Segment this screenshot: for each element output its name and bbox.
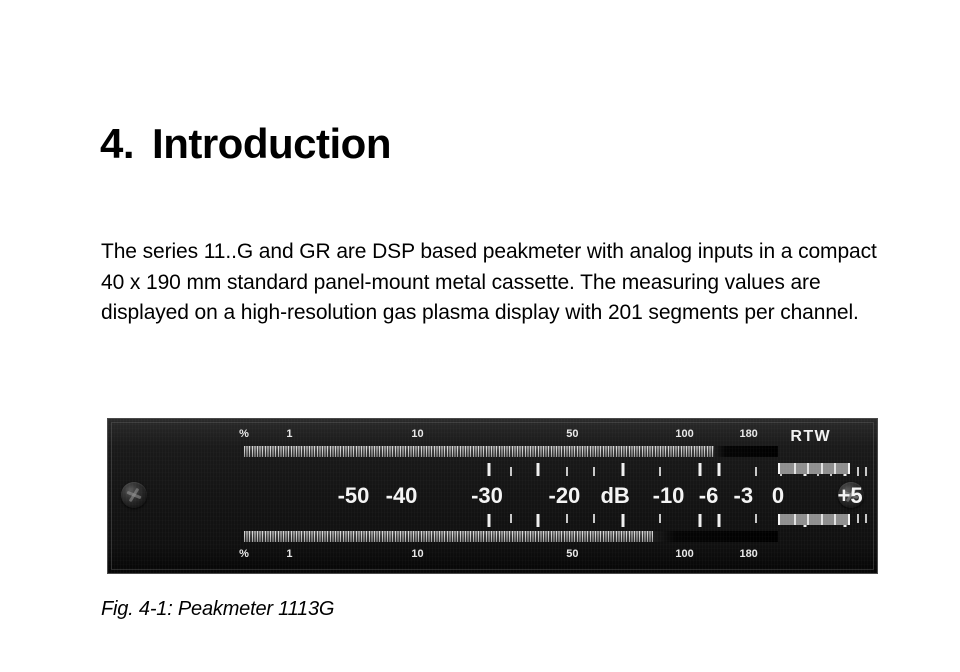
tick-minor (659, 467, 661, 476)
tick-major (621, 463, 624, 476)
tick-minor (510, 514, 512, 523)
tick-minor (566, 514, 568, 523)
tick-minor (755, 514, 757, 523)
percent-tick-label: % (239, 427, 249, 441)
overrange-bracket-lower (778, 514, 850, 525)
db-tick-label: -40 (386, 481, 418, 511)
percent-tick-label: 50 (566, 427, 578, 441)
bargraph-lower-lit (244, 531, 653, 542)
tick-minor (865, 467, 867, 476)
percent-tick-label: 10 (411, 427, 423, 441)
db-tick-label: -10 (653, 481, 685, 511)
tick-minor (659, 514, 661, 523)
page-title-text: Introduction (152, 120, 391, 167)
db-tick-label: -20 (548, 481, 580, 511)
percent-tick-label: 1 (286, 547, 292, 561)
percent-tick-label: 10 (411, 547, 423, 561)
percent-tick-label: % (239, 547, 249, 561)
db-tick-label: -30 (471, 481, 503, 511)
overrange-division (807, 463, 809, 474)
percent-tick-label: 180 (739, 547, 757, 561)
bargraph-upper (244, 446, 778, 457)
overrange-division (821, 514, 823, 525)
db-tick-label: -50 (338, 481, 370, 511)
overrange-bracket-upper (778, 463, 850, 474)
overrange-division (834, 463, 836, 474)
peakmeter-figure: RTW %11050100180 -50-40-30-20dB-10-6-30+… (107, 418, 878, 574)
intro-paragraph: The series 11..G and GR are DSP based pe… (101, 237, 891, 329)
tick-major (718, 463, 721, 476)
tick-minor (593, 467, 595, 476)
page-title-number: 4. (100, 120, 134, 167)
tick-major (621, 514, 624, 527)
tick-minor (857, 467, 859, 476)
tick-minor (593, 514, 595, 523)
percent-scale-top: %11050100180 (108, 427, 877, 441)
tick-major (488, 514, 491, 527)
overrange-division (834, 514, 836, 525)
tick-minor (510, 467, 512, 476)
db-tick-label: -6 (699, 481, 719, 511)
db-tick-label: +5 (838, 481, 863, 511)
db-tick-label: 0 (772, 481, 784, 511)
tick-minor (857, 514, 859, 523)
db-tick-label: dB (600, 481, 629, 511)
overrange-division (821, 463, 823, 474)
percent-tick-label: 50 (566, 547, 578, 561)
bargraph-lower-dark (653, 531, 778, 542)
db-tick-label: -3 (734, 481, 754, 511)
tick-major (718, 514, 721, 527)
tick-major (536, 514, 539, 527)
overrange-division (794, 463, 796, 474)
tick-major (488, 463, 491, 476)
tick-row-lower (244, 514, 778, 530)
percent-tick-label: 1 (286, 427, 292, 441)
bargraph-upper-lit (244, 446, 714, 457)
tick-minor (755, 467, 757, 476)
overrange-division (807, 514, 809, 525)
db-scale: -50-40-30-20dB-10-6-30+5 (108, 481, 877, 511)
bargraph-lower (244, 531, 778, 542)
tick-major (699, 514, 702, 527)
tick-minor (865, 514, 867, 523)
tick-major (699, 463, 702, 476)
overrange-division (794, 514, 796, 525)
tick-major (536, 463, 539, 476)
peakmeter-device: RTW %11050100180 -50-40-30-20dB-10-6-30+… (107, 418, 878, 574)
page-title: 4.Introduction (100, 120, 391, 168)
figure-caption: Fig. 4-1: Peakmeter 1113G (101, 598, 334, 621)
percent-scale-bottom: %11050100180 (108, 547, 877, 561)
percent-tick-label: 180 (739, 427, 757, 441)
percent-tick-label: 100 (675, 427, 693, 441)
bargraph-upper-dark (714, 446, 778, 457)
tick-row-upper (244, 460, 778, 476)
tick-minor (566, 467, 568, 476)
percent-tick-label: 100 (675, 547, 693, 561)
